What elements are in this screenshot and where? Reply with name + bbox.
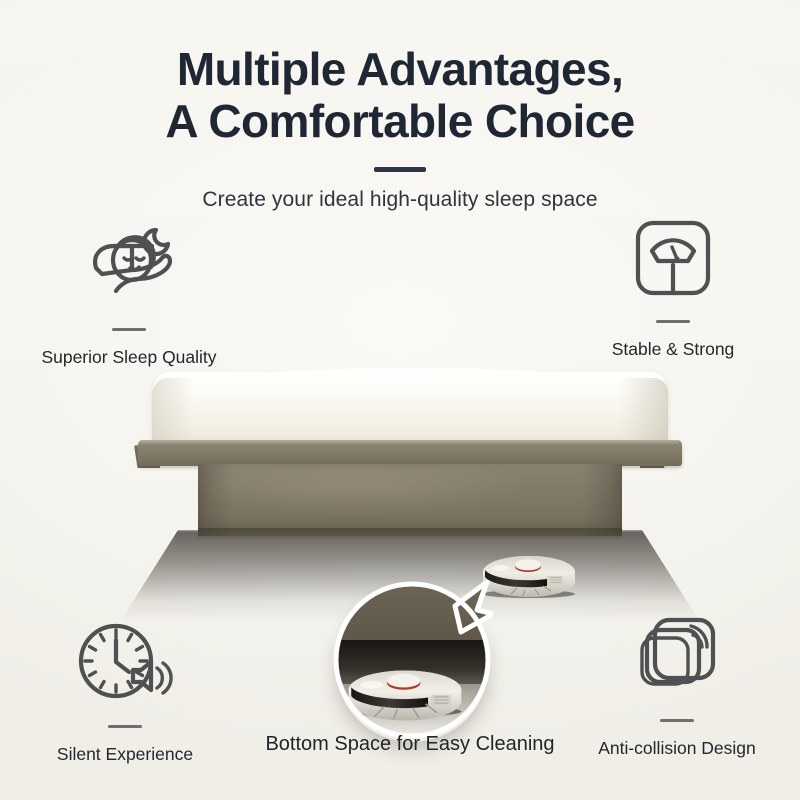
feature-divider	[656, 320, 690, 323]
feature-label: Silent Experience	[10, 744, 240, 765]
bed-frame-ledge-highlight	[140, 440, 680, 445]
feature-divider	[108, 725, 142, 728]
feature-divider	[112, 328, 146, 331]
bed-frame-foot-shadow	[198, 528, 622, 540]
feature-stable-and-strong[interactable]: Stable & Strong	[558, 208, 788, 360]
bed-frame-plinth-highlight	[210, 468, 570, 524]
feature-label: Superior Sleep Quality	[14, 347, 244, 368]
page-title: Multiple Advantages, A Comfortable Choic…	[0, 44, 800, 147]
mattress-left-shading	[152, 378, 194, 444]
weight-scale-icon	[558, 208, 788, 308]
feature-silent-experience[interactable]: Silent Experience	[10, 613, 240, 765]
clock-speaker-icon	[10, 613, 240, 713]
feature-divider	[660, 719, 694, 722]
sleeping-person-moon-icon	[14, 216, 244, 316]
bed-frame-plinth-left-edge	[198, 464, 232, 536]
collision-sensor-squares-icon	[562, 607, 792, 707]
header: Multiple Advantages, A Comfortable Choic…	[0, 44, 800, 212]
bed-frame-plinth-right-edge	[582, 464, 622, 536]
title-line-1: Multiple Advantages,	[0, 44, 800, 96]
feature-superior-sleep-quality[interactable]: Superior Sleep Quality	[14, 216, 244, 368]
magnifier-callout[interactable]	[327, 580, 493, 738]
infographic-page: Multiple Advantages, A Comfortable Choic…	[0, 0, 800, 800]
feature-label: Stable & Strong	[558, 339, 788, 360]
mattress-right-shading	[620, 378, 668, 444]
callout-label: Bottom Space for Easy Cleaning	[220, 733, 600, 756]
title-divider	[374, 167, 426, 172]
title-line-2: A Comfortable Choice	[0, 96, 800, 148]
